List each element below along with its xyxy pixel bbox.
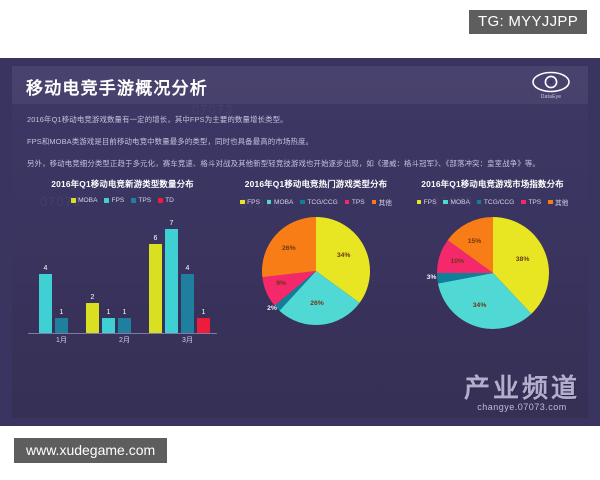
pie2-plot: 38%34%3%10%15% — [400, 213, 585, 355]
pie2-circle: 38%34%3%10%15% — [437, 217, 549, 329]
legend-label: TCG/CCG — [307, 199, 337, 206]
legend-swatch-icon — [240, 200, 245, 205]
chart-panel-pie-hot-types: 2016年Q1移动电竞热门游戏类型分布 FPSMOBATCG/CCGTPS其他 … — [230, 178, 402, 355]
pie1-legend-item[interactable]: FPS — [240, 199, 260, 206]
page-title: 移动电竞手游概况分析 — [26, 74, 208, 99]
bar-value-label: 4 — [186, 265, 190, 272]
legend-swatch-icon — [104, 198, 109, 203]
charts-row: 2016年Q1移动电竞新游类型数量分布 MOBAFPSTPSTD 4121167… — [12, 178, 588, 378]
bar-chart-plot: 412116741 1月2月3月 — [20, 214, 225, 352]
bar-column[interactable]: 6 — [149, 215, 162, 333]
bar-column[interactable]: 1 — [102, 215, 115, 333]
pie2-chart-title: 2016年Q1移动电竞游戏市场指数分布 — [400, 178, 585, 190]
bar-rect[interactable] — [55, 318, 68, 333]
dataeye-logo: DataEye — [530, 71, 572, 103]
pie1-legend-item[interactable]: MOBA — [267, 199, 293, 206]
pie2-chart-legend: FPSMOBATCG/CCGTPS其他 — [400, 197, 585, 207]
slide-container: 移动电竞手游概况分析 DataEye 2016年Q1移动电竞游戏数量有一定的增长… — [0, 58, 600, 426]
bar-value-label: 1 — [202, 309, 206, 316]
site-url-tag: www.xudegame.com — [14, 438, 167, 463]
legend-label: FPS — [111, 197, 124, 204]
bar-column[interactable]: 2 — [86, 215, 99, 333]
legend-swatch-icon — [267, 200, 272, 205]
bar-value-label: 2 — [91, 294, 95, 301]
bar-value-label: 1 — [107, 309, 111, 316]
legend-label: 其他 — [555, 197, 568, 207]
pie2-legend-item[interactable]: FPS — [417, 199, 437, 206]
tg-handle-tag: TG: MYYJJPP — [469, 10, 587, 34]
bar-group: 6741 — [149, 215, 210, 333]
bar-x-label: 2月 — [94, 335, 156, 349]
bar-rect[interactable] — [39, 274, 52, 333]
bar-x-label: 1月 — [31, 335, 93, 349]
bar-column[interactable]: 4 — [181, 215, 194, 333]
eye-icon — [530, 71, 572, 93]
bar-groups: 412116741 — [30, 215, 219, 333]
legend-swatch-icon — [417, 200, 422, 205]
pie1-chart-legend: FPSMOBATCG/CCGTPS其他 — [230, 197, 402, 207]
bar-rect[interactable] — [197, 318, 210, 333]
legend-swatch-icon — [158, 198, 163, 203]
chanye-watermark-url: changye.07073.com — [464, 402, 580, 412]
chanye-watermark: 产业频道 changye.07073.com — [464, 375, 580, 412]
bar-column[interactable]: 7 — [165, 215, 178, 333]
legend-label: TPS — [352, 199, 365, 206]
bar-chart-legend: MOBAFPSTPSTD — [20, 197, 225, 204]
bar-legend-item[interactable]: TPS — [131, 197, 151, 204]
legend-swatch-icon — [443, 200, 448, 205]
intro-paragraph-3: 另外，移动电竞细分类型正趋于多元化，赛车竞速、格斗对战及其他新型轻竞技游戏也开始… — [27, 158, 540, 169]
legend-swatch-icon — [71, 198, 76, 203]
pie2-legend-item[interactable]: TCG/CCG — [477, 199, 514, 206]
bar-rect[interactable] — [149, 244, 162, 333]
legend-swatch-icon — [372, 200, 377, 205]
bar-x-axis-labels: 1月2月3月 — [30, 335, 219, 349]
legend-swatch-icon — [300, 200, 305, 205]
legend-swatch-icon — [521, 200, 526, 205]
chanye-watermark-title: 产业频道 — [464, 375, 580, 401]
bar-rect[interactable] — [181, 274, 194, 333]
bar-value-label: 1 — [123, 309, 127, 316]
legend-swatch-icon — [477, 200, 482, 205]
pie2-legend-item[interactable]: MOBA — [443, 199, 469, 206]
pie2-pie-svg — [437, 217, 549, 329]
legend-label: TPS — [528, 199, 541, 206]
bar-value-label: 6 — [154, 235, 158, 242]
bar-column[interactable]: 1 — [197, 215, 210, 333]
bar-value-label: 4 — [44, 265, 48, 272]
bar-column[interactable]: 1 — [118, 215, 131, 333]
intro-paragraph-2: FPS和MOBA类游戏是目前移动电竞中数量最多的类型，同时也具备最高的市场热度。 — [27, 136, 313, 147]
legend-swatch-icon — [131, 198, 136, 203]
bar-rect[interactable] — [102, 318, 115, 333]
pie2-legend-item[interactable]: TPS — [521, 199, 541, 206]
legend-label: MOBA — [274, 199, 293, 206]
bar-column[interactable]: 4 — [39, 215, 52, 333]
legend-label: MOBA — [78, 197, 97, 204]
legend-swatch-icon — [345, 200, 350, 205]
bar-legend-item[interactable]: MOBA — [71, 197, 97, 204]
bar-x-label: 3月 — [157, 335, 219, 349]
pie1-chart-title: 2016年Q1移动电竞热门游戏类型分布 — [230, 178, 402, 190]
top-white-strip: TG: MYYJJPP — [0, 0, 600, 58]
legend-label: FPS — [424, 199, 437, 206]
bar-group: 41 — [39, 215, 68, 333]
bar-value-label: 1 — [60, 309, 64, 316]
legend-label: FPS — [247, 199, 260, 206]
bar-chart-axis-line — [28, 333, 217, 334]
bar-rect[interactable] — [86, 303, 99, 333]
bar-rect[interactable] — [118, 318, 131, 333]
pie1-legend-item[interactable]: TCG/CCG — [300, 199, 337, 206]
dataeye-logo-text: DataEye — [530, 94, 572, 100]
pie1-legend-item[interactable]: 其他 — [372, 197, 392, 207]
legend-label: TPS — [138, 197, 151, 204]
legend-label: MOBA — [450, 199, 469, 206]
intro-paragraph-1: 2016年Q1移动电竞游戏数量有一定的增长，其中FPS为主要的数量增长类型。 — [27, 114, 288, 125]
pie2-legend-item[interactable]: 其他 — [548, 197, 568, 207]
bar-legend-item[interactable]: TD — [158, 197, 174, 204]
bottom-white-strip: www.xudegame.com — [0, 426, 600, 480]
pie1-legend-item[interactable]: TPS — [345, 199, 365, 206]
legend-label: TCG/CCG — [484, 199, 514, 206]
bar-group: 211 — [86, 215, 131, 333]
bar-value-label: 7 — [170, 220, 174, 227]
bar-legend-item[interactable]: FPS — [104, 197, 124, 204]
pie2-pie-slice-label: 3% — [427, 274, 437, 281]
pie1-circle: 34%26%2%9%26% — [262, 217, 370, 325]
bar-chart-title: 2016年Q1移动电竞新游类型数量分布 — [20, 178, 225, 190]
legend-swatch-icon — [548, 200, 553, 205]
bar-rect[interactable] — [165, 229, 178, 333]
pie1-pie-slice[interactable] — [262, 217, 316, 277]
legend-label: TD — [165, 197, 174, 204]
chart-panel-bar: 2016年Q1移动电竞新游类型数量分布 MOBAFPSTPSTD 4121167… — [20, 178, 225, 352]
pie1-pie-svg — [262, 217, 370, 325]
chart-panel-pie-market-index: 2016年Q1移动电竞游戏市场指数分布 FPSMOBATCG/CCGTPS其他 … — [400, 178, 585, 355]
pie1-plot: 34%26%2%9%26% — [230, 213, 402, 355]
legend-label: 其他 — [379, 197, 392, 207]
slide-inner: 移动电竞手游概况分析 DataEye 2016年Q1移动电竞游戏数量有一定的增长… — [12, 66, 588, 418]
bar-column[interactable]: 1 — [55, 215, 68, 333]
